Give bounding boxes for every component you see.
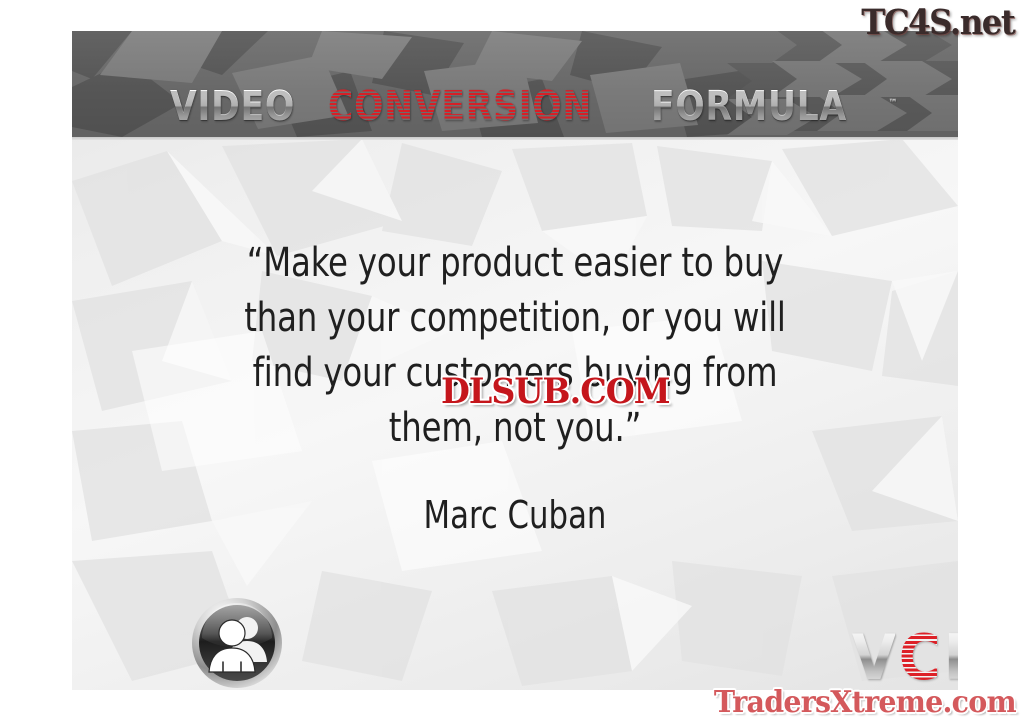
slide-canvas: VIDEO CONVERSION FORMULA ™ “Make your pr…: [0, 0, 1024, 724]
logo-word-formula: FORMULA: [651, 86, 847, 127]
quote-line: “Make your product easier to buy: [188, 236, 841, 291]
quote-text: “Make your product easier to buy than yo…: [152, 236, 878, 456]
trademark-symbol: ™: [888, 98, 897, 109]
people-icon: [190, 596, 284, 690]
vcf-letter-v: V: [852, 627, 895, 689]
video-conversion-formula-logo: VIDEO CONVERSION FORMULA ™: [170, 86, 898, 132]
tc4s-watermark: TC4S.net: [861, 2, 1014, 43]
tradersxtreme-watermark: TradersXtreme.com: [714, 685, 1016, 720]
vcf-letter-f: F: [943, 627, 958, 689]
logo-word-video: VIDEO: [170, 86, 295, 127]
quote-attribution: Marc Cuban: [188, 493, 841, 537]
vcf-brand-mark: V C F: [850, 627, 958, 689]
logo-word-conversion: CONVERSION: [328, 86, 592, 127]
presentation-slide: VIDEO CONVERSION FORMULA ™ “Make your pr…: [72, 31, 958, 690]
dlsub-watermark: DLSUB.COM: [441, 371, 670, 412]
quote-line: than your competition, or you will: [188, 291, 841, 346]
header-underline: [72, 137, 958, 140]
vcf-letter-c: C: [899, 627, 940, 689]
